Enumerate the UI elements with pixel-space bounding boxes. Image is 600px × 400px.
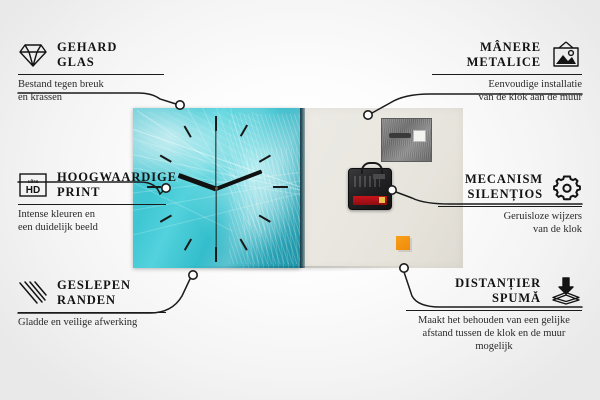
clock-second-hand xyxy=(215,189,216,251)
infographic-canvas: GEHARD GLAS Bestand tegen breuk en krass… xyxy=(0,0,600,400)
foam-spacer xyxy=(396,236,410,250)
feature-rule xyxy=(18,204,166,205)
clock-mechanism xyxy=(348,168,392,210)
feature-manere-metalice[interactable]: MÂNERE METALICE Eenvoudige installatie v… xyxy=(432,40,582,104)
feature-gehard-glas[interactable]: GEHARD GLAS Bestand tegen breuk en krass… xyxy=(18,40,168,104)
mechanism-label-secondary xyxy=(373,174,385,179)
feature-subtitle: Intense kleuren en een duidelijk beeld xyxy=(18,208,170,234)
feature-subtitle: Bestand tegen breuk en krassen xyxy=(18,78,168,104)
feature-subtitle: Geruisloze wijzers van de klok xyxy=(438,210,582,236)
feature-subtitle: Eenvoudige installatie van de klok aan d… xyxy=(432,78,582,104)
feature-title: DISTANȚIER SPUMĂ xyxy=(455,276,541,306)
diamond-icon xyxy=(18,41,48,69)
feature-head: GESLEPEN RANDEN xyxy=(18,278,170,308)
gear-icon xyxy=(552,173,582,201)
feature-title: MÂNERE METALICE xyxy=(467,40,541,70)
feature-rule xyxy=(18,74,164,75)
feature-subtitle: Gladde en veilige afwerking xyxy=(18,316,170,329)
feature-distantier-spuma[interactable]: DISTANȚIER SPUMĂ Maakt het behouden van … xyxy=(406,276,582,353)
mechanism-loop xyxy=(361,162,383,174)
feature-head: GEHARD GLAS xyxy=(18,40,168,70)
feature-title: MECANISM SILENȚIOS xyxy=(465,172,543,202)
hanger-slot xyxy=(389,133,411,138)
feature-title: GESLEPEN RANDEN xyxy=(57,278,131,308)
feature-rule xyxy=(432,74,582,75)
feature-rule xyxy=(406,310,582,311)
spacer-arrow-icon xyxy=(550,277,582,305)
wall-hanging-frame-icon xyxy=(550,41,582,69)
clock-center-pin xyxy=(215,187,218,190)
feature-mecanism-silentios[interactable]: MECANISM SILENȚIOS Geruisloze wijzers va… xyxy=(438,172,582,236)
feature-head: MECANISM SILENȚIOS xyxy=(438,172,582,202)
beveled-edges-icon xyxy=(18,280,48,306)
battery xyxy=(353,196,387,205)
battery-terminal xyxy=(379,197,385,203)
feature-title: GEHARD GLAS xyxy=(57,40,117,70)
metal-hanger-plate xyxy=(381,118,432,162)
feature-rule xyxy=(438,206,582,207)
product-shadow xyxy=(133,266,465,274)
product-photo xyxy=(133,108,463,268)
ultra-hd-icon: ultra HD xyxy=(18,171,48,199)
feature-title: HOOGWAARDIGE PRINT xyxy=(57,170,177,200)
hanger-chip xyxy=(413,130,426,142)
feature-geslepen-randen[interactable]: GESLEPEN RANDEN Gladde en veilige afwerk… xyxy=(18,278,170,329)
feature-hoogwaardige-print[interactable]: ultra HD HOOGWAARDIGE PRINT Intense kleu… xyxy=(18,170,170,234)
feature-subtitle: Maakt het behouden van een gelijke afsta… xyxy=(406,314,582,353)
feature-head: ultra HD HOOGWAARDIGE PRINT xyxy=(18,170,170,200)
feature-head: MÂNERE METALICE xyxy=(432,40,582,70)
feature-head: DISTANȚIER SPUMĂ xyxy=(406,276,582,306)
svg-text:HD: HD xyxy=(26,185,40,196)
feature-rule xyxy=(18,312,166,313)
